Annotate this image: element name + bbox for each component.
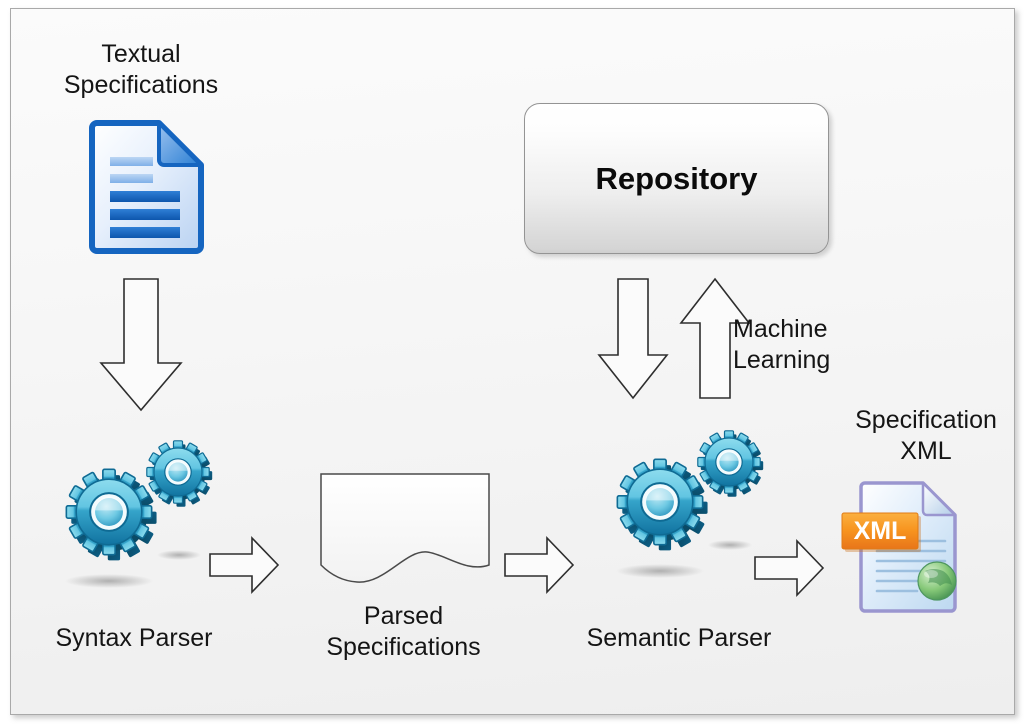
repository-label: Repository xyxy=(596,161,758,197)
parsed-specifications-shape xyxy=(319,472,491,592)
label-syntax-parser: Syntax Parser xyxy=(19,623,249,654)
document-icon xyxy=(87,119,205,255)
label-specification-xml: Specification XML xyxy=(831,405,1021,467)
label-semantic-parser: Semantic Parser xyxy=(559,623,799,654)
arrow-down-textual-to-syntax xyxy=(99,277,183,413)
xml-document-icon: XML xyxy=(839,479,979,614)
arrow-right-syntax-to-parsed xyxy=(208,536,280,594)
diagram-frame: Textual Specifications xyxy=(10,8,1015,715)
repository-box[interactable]: Repository xyxy=(524,103,829,254)
label-textual-specifications: Textual Specifications xyxy=(31,39,251,101)
diagram-canvas: Textual Specifications xyxy=(0,0,1024,724)
xml-badge-text: XML xyxy=(854,517,907,545)
gears-icon-semantic-parser xyxy=(596,417,776,587)
gears-icon-syntax-parser xyxy=(45,427,225,597)
label-machine-learning: Machine Learning xyxy=(733,314,933,376)
label-parsed-specifications: Parsed Specifications xyxy=(291,601,516,663)
arrow-right-semantic-to-xml xyxy=(753,539,825,597)
arrow-right-parsed-to-semantic xyxy=(503,536,575,594)
arrow-down-repository xyxy=(597,277,669,401)
